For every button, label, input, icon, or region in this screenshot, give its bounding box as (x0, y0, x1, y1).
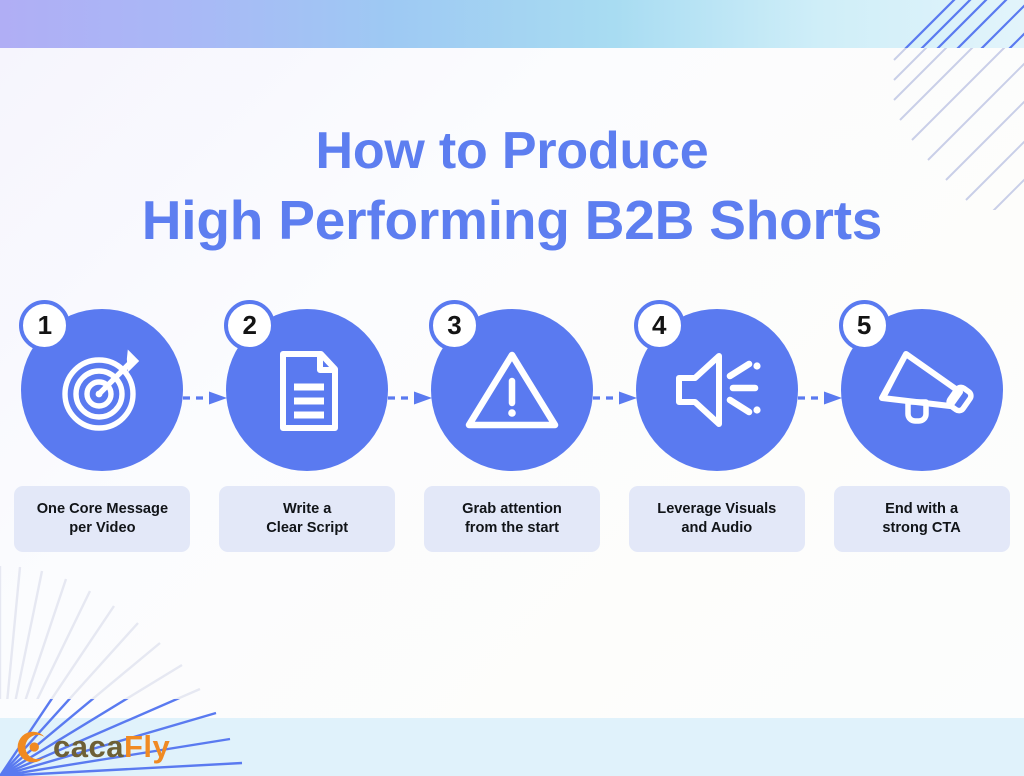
step-item-1[interactable]: 1 One Core Message per Video (0, 300, 205, 560)
step-item-5[interactable]: 5 End with a strong CTA (819, 300, 1024, 560)
step-item-4[interactable]: 4 Leverage Visuals and Audio (614, 300, 819, 560)
logo-wordmark: cacaFly (53, 729, 170, 765)
step-4-number-badge: 4 (634, 300, 685, 351)
step-4-icon-wrap: 4 (636, 300, 798, 480)
step-3-label: Grab attention from the start (424, 486, 600, 552)
document-icon (259, 342, 355, 438)
page-title: How to Produce High Performing B2B Short… (0, 118, 1024, 255)
steps-row: 1 One Core Message per Video 2 Write a C… (0, 300, 1024, 560)
step-5-icon-wrap: 5 (841, 300, 1003, 480)
step-item-3[interactable]: 3 Grab attention from the start (410, 300, 615, 560)
step-4-label: Leverage Visuals and Audio (629, 486, 805, 552)
speaker-icon (667, 340, 767, 440)
step-2-icon-wrap: 2 (226, 300, 388, 480)
step-3-icon-wrap: 3 (431, 300, 593, 480)
title-line-1: How to Produce (316, 122, 709, 180)
megaphone-icon (868, 340, 976, 440)
step-5-number-badge: 5 (839, 300, 890, 351)
step-1-icon-wrap: 1 (21, 300, 183, 480)
step-2-number-badge: 2 (224, 300, 275, 351)
title-line-2: High Performing B2B Shorts (0, 185, 1024, 255)
warning-icon (463, 341, 561, 439)
step-3-number-badge: 3 (429, 300, 480, 351)
step-1-label: One Core Message per Video (14, 486, 190, 552)
logo-text-fly: Fly (124, 729, 170, 764)
target-icon (54, 342, 150, 438)
step-item-2[interactable]: 2 Write a Clear Script (205, 300, 410, 560)
top-gradient-band (0, 0, 1024, 48)
step-2-label: Write a Clear Script (219, 486, 395, 552)
logo-text-caca: caca (53, 729, 124, 764)
cacafly-logo[interactable]: cacaFly (14, 726, 170, 768)
cacafly-c-mark-icon (14, 729, 50, 765)
step-5-label: End with a strong CTA (834, 486, 1010, 552)
